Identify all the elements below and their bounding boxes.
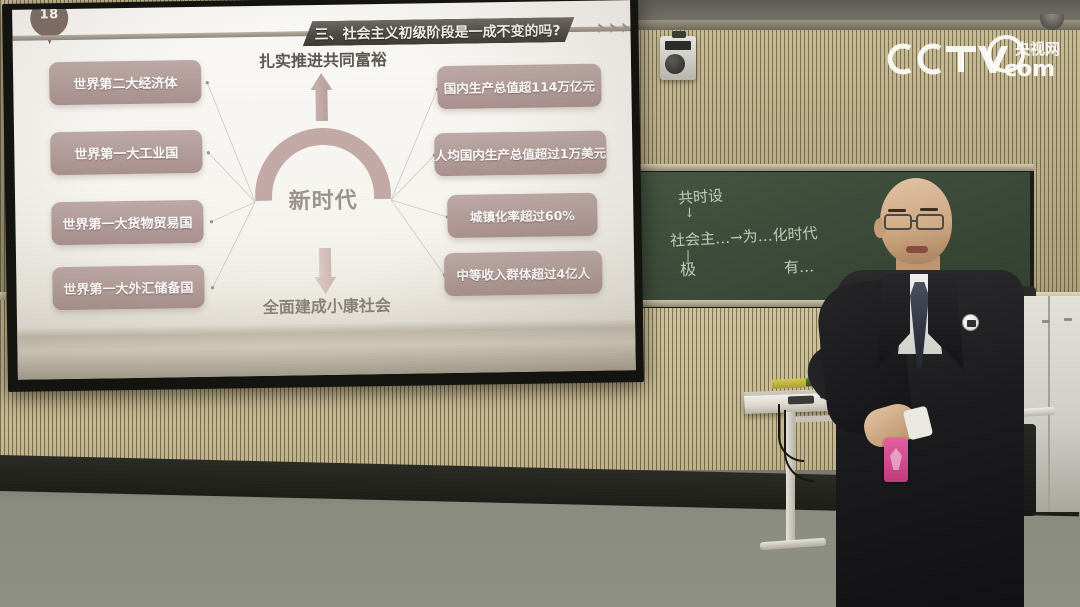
- presenter-lapel-pin: [962, 314, 979, 331]
- projection-screen-surface[interactable]: 18 三、社会主义初级阶段是一成不变的吗? › › › 世界第二大经济体 世界第…: [12, 0, 636, 380]
- wall-speaker-icon: [660, 36, 696, 80]
- glasses-bridge: [911, 220, 918, 222]
- chevron-right-icon-3: ›: [620, 18, 633, 40]
- slide-title-banner: 三、社会主义初级阶段是一成不变的吗?: [302, 17, 574, 46]
- left-box-1[interactable]: 世界第二大经济体: [49, 60, 202, 105]
- presenter-brow-left: [888, 209, 906, 212]
- cabinet-handle-right[interactable]: [1064, 318, 1072, 321]
- right-box-4[interactable]: 中等收入群体超过4亿人: [444, 251, 603, 296]
- arrow-down-head: [314, 277, 336, 294]
- caption-top: 扎实推进共同富裕: [225, 45, 421, 72]
- presenter-mouth: [906, 246, 928, 253]
- presenter-pink-badge: [884, 438, 908, 482]
- cctv-logo-svg: 央视网 com: [884, 32, 1070, 80]
- arrow-down-icon: [314, 248, 337, 294]
- center-label: 新时代: [253, 182, 393, 216]
- screen-glare: [17, 318, 636, 380]
- arrow-down-shaft: [319, 248, 332, 280]
- speaker-display: [665, 41, 691, 50]
- presenter-brow-right: [920, 208, 938, 211]
- arrow-up-icon: [310, 73, 333, 121]
- projection-screen-frame: 18 三、社会主义初级阶段是一成不变的吗? › › › 世界第二大经济体 世界第…: [2, 0, 644, 392]
- right-box-3[interactable]: 城镇化率超过60%: [447, 193, 598, 238]
- speaker-dial: [665, 54, 685, 74]
- ceiling-beam: [620, 0, 1080, 22]
- video-frame: 共时设 ↓ 社会主…→为…化时代 | 极 有…: [0, 0, 1080, 607]
- cctv-cn-text: 央视网: [1015, 40, 1060, 58]
- speaker-clip: [672, 31, 686, 38]
- cabinet-handle-left[interactable]: [1042, 320, 1050, 323]
- glasses-lens-right-icon: [916, 214, 944, 230]
- right-box-2[interactable]: 人均国内生产总值超过1万美元: [434, 131, 607, 177]
- chalk-line-1: 共时设: [677, 184, 723, 208]
- cctv-com-text: com: [1004, 57, 1055, 80]
- arrow-up-shaft: [315, 87, 328, 121]
- left-box-4[interactable]: 世界第一大外汇储备国: [52, 265, 205, 310]
- presenter: [770, 170, 1030, 607]
- slide-page-number: 18: [30, 7, 68, 23]
- chalk-stroke-down: ↓: [684, 206, 695, 221]
- cctv-com-watermark: 央视网 com: [884, 32, 1070, 80]
- left-box-3[interactable]: 世界第一大货物贸易国: [51, 200, 204, 245]
- left-box-2[interactable]: 世界第一大工业国: [50, 130, 203, 175]
- chalk-line-3: 极: [680, 256, 697, 281]
- caption-bottom: 全面建成小康社会: [223, 291, 431, 318]
- ceiling-beam-shadow: [620, 20, 1080, 30]
- slide-title: 三、社会主义初级阶段是一成不变的吗?: [314, 20, 560, 44]
- right-box-1[interactable]: 国内生产总值超114万亿元: [437, 64, 602, 110]
- cabinet-door-split: [1048, 296, 1050, 512]
- glasses-lens-left-icon: [884, 214, 912, 230]
